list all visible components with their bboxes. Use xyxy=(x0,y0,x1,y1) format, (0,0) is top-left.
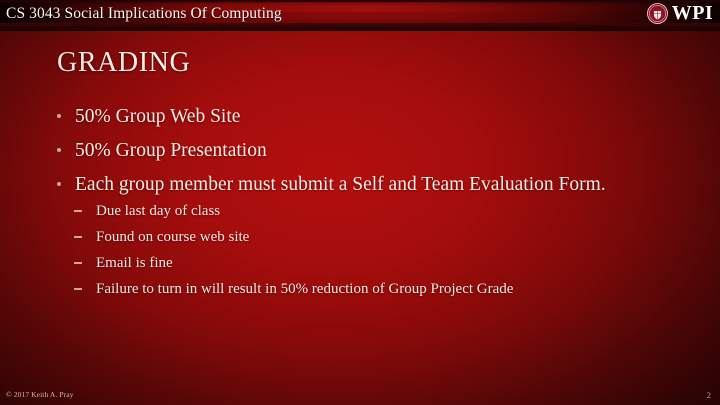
slide-body: 50% Group Web Site 50% Group Presentatio… xyxy=(48,104,688,305)
copyright-notice: © 2017 Keith A. Pray xyxy=(6,390,74,400)
bullet-text: 50% Group Presentation xyxy=(75,140,267,161)
sub-bullet-text: Failure to turn in will result in 50% re… xyxy=(96,281,513,297)
bullet-dash-icon xyxy=(74,210,82,212)
bullet-dash-icon xyxy=(74,236,82,238)
bullet-text: Each group member must submit a Self and… xyxy=(75,174,606,195)
sub-bullet-item: Found on course web site xyxy=(48,227,688,248)
slide-page-number: 2 xyxy=(707,390,711,400)
sub-bullet-item: Email is fine xyxy=(48,253,688,274)
bullet-item: Each group member must submit a Self and… xyxy=(48,172,688,197)
sub-bullet-text: Found on course web site xyxy=(96,229,249,245)
presentation-slide: CS 3043 Social Implications Of Computing… xyxy=(0,0,720,405)
bullet-dot-icon xyxy=(57,114,61,118)
sub-bullet-text: Due last day of class xyxy=(96,203,220,219)
wpi-seal-icon xyxy=(647,3,668,24)
sub-bullet-item: Failure to turn in will result in 50% re… xyxy=(48,279,688,300)
bullet-dash-icon xyxy=(74,262,82,264)
bullet-text: 50% Group Web Site xyxy=(75,106,240,127)
wpi-logo: WPI xyxy=(647,2,713,25)
sub-bullet-text: Email is fine xyxy=(96,255,173,271)
wpi-wordmark: WPI xyxy=(672,2,713,25)
bullet-item: 50% Group Web Site xyxy=(48,104,688,129)
course-title: CS 3043 Social Implications Of Computing xyxy=(6,3,282,25)
bullet-dash-icon xyxy=(74,288,82,290)
bullet-dot-icon xyxy=(57,148,61,152)
slide-title: GRADING xyxy=(57,46,190,80)
sub-bullet-item: Due last day of class xyxy=(48,201,688,222)
bullet-dot-icon xyxy=(57,182,61,186)
bullet-item: 50% Group Presentation xyxy=(48,138,688,163)
